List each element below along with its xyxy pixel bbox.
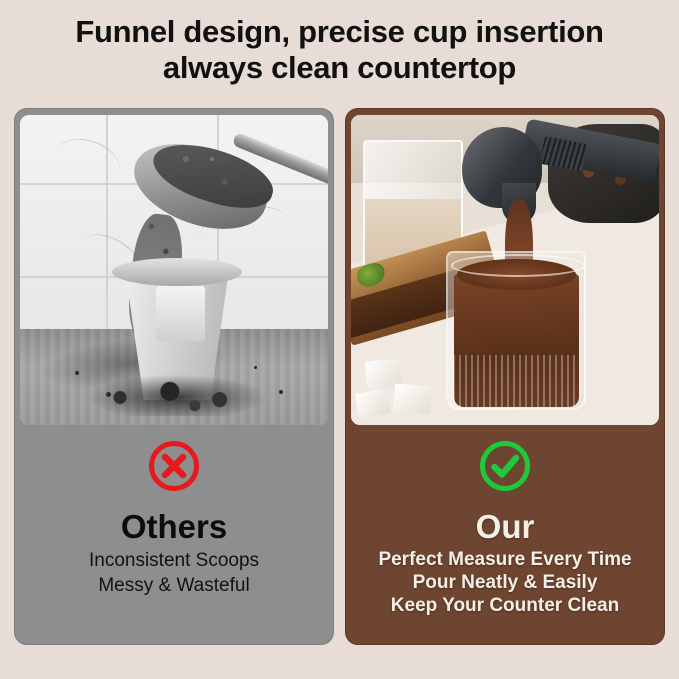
page-title-line-1: Funnel design, precise cup insertion xyxy=(0,14,679,50)
glass-jar xyxy=(446,251,586,410)
panel-subtext-line: Inconsistent Scoops xyxy=(15,548,333,573)
panel-subtext-line: Keep Your Counter Clean xyxy=(346,594,664,617)
panel-subtext-line: Pour Neatly & Easily xyxy=(346,571,664,594)
panel-subtext-line: Messy & Wasteful xyxy=(15,573,333,598)
page-title: Funnel design, precise cup insertion alw… xyxy=(0,14,679,86)
cross-circle-icon xyxy=(147,439,201,498)
panel-others: Others Inconsistent Scoops Messy & Waste… xyxy=(14,108,334,645)
check-circle-icon xyxy=(478,439,532,498)
comparison-panels: Others Inconsistent Scoops Messy & Waste… xyxy=(14,108,665,645)
panel-our: Our Perfect Measure Every Time Pour Neat… xyxy=(345,108,665,645)
sugar-cube xyxy=(393,383,432,414)
caption-others: Others Inconsistent Scoops Messy & Waste… xyxy=(15,498,333,598)
photo-messy-scoop xyxy=(20,115,328,425)
panel-subtext: Perfect Measure Every Time Pour Neatly &… xyxy=(346,548,664,617)
spilled-grounds-pile xyxy=(88,375,267,415)
grounds-fleck xyxy=(279,390,283,394)
caption-our: Our Perfect Measure Every Time Pour Neat… xyxy=(346,498,664,617)
photo-neat-pour xyxy=(351,115,659,425)
jar-ribbed-texture xyxy=(453,355,580,408)
kcup-rim xyxy=(112,258,241,286)
panel-heading: Our xyxy=(346,508,664,546)
panel-subtext: Inconsistent Scoops Messy & Wasteful xyxy=(15,548,333,598)
kcup-inner-basket xyxy=(156,286,205,342)
jar-rim xyxy=(451,254,585,277)
panel-subtext-line: Perfect Measure Every Time xyxy=(346,548,664,571)
page-title-line-2: always clean countertop xyxy=(0,50,679,86)
panel-heading: Others xyxy=(15,508,333,546)
